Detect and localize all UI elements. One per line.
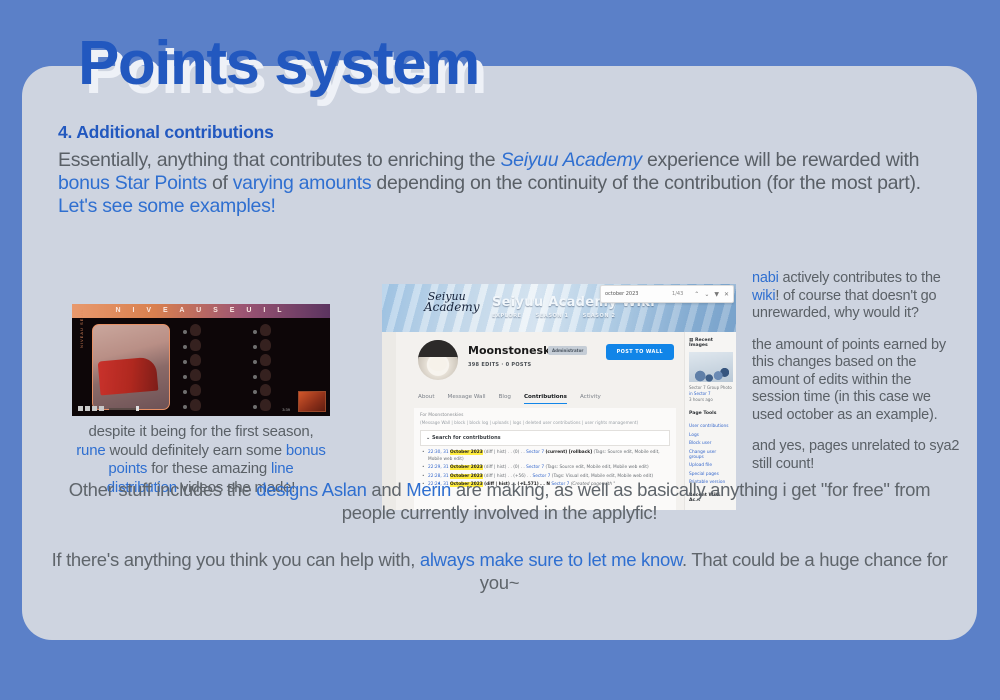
entry-tools[interactable]: (diff | hist) . . (0) . .: [484, 465, 525, 470]
left-figure: N I V E A U S E U I L NIVEAU SEUIL: [72, 304, 330, 497]
bottom1-text-1: Other stuff includes the: [69, 479, 257, 500]
wiki-screenshot: Seiyuu Academy Seiyuu Academy Wiki EXPLO…: [382, 284, 736, 510]
list-item: [252, 399, 278, 412]
thumbnail-column-left: [182, 324, 208, 414]
content-card: 4. Additional contributions Essentially,…: [22, 66, 977, 640]
link-bonus-star-points[interactable]: bonus Star Points: [58, 172, 207, 194]
link-varying-amounts[interactable]: varying amounts: [233, 172, 372, 194]
video-title-bar: N I V E A U S E U I L: [72, 304, 330, 318]
list-item: [182, 354, 208, 367]
entry-tools[interactable]: (diff | hist) . . (0) . .: [484, 450, 525, 455]
list-item: [252, 384, 278, 397]
page-tools-heading: Page Tools: [689, 411, 732, 416]
list-item: [252, 324, 278, 337]
entry-page[interactable]: Sector 7: [526, 465, 544, 470]
close-icon[interactable]: ✕: [724, 291, 729, 298]
video-side-label: NIVEAU SEUIL: [79, 308, 84, 348]
list-item: [252, 339, 278, 352]
recent-image-thumbnail[interactable]: [689, 352, 733, 382]
thumbnail-column-right: [252, 324, 278, 414]
entry-date: October 2023: [450, 465, 483, 470]
contributions-links[interactable]: (Message Wall | block | block log | uplo…: [420, 420, 670, 425]
list-item: [182, 384, 208, 397]
page-title: Points system: [78, 28, 479, 99]
video-time: 3:39: [282, 407, 290, 412]
stop-icon[interactable]: [85, 406, 90, 411]
intro-text-2: experience will be rewarded with: [642, 149, 919, 171]
page-tools-list[interactable]: User contributions Logs Block user Chang…: [689, 424, 732, 485]
link-see-examples[interactable]: Let's see some examples!: [58, 195, 276, 217]
list-item: 22:30, 31 October 2023 (diff | hist) . .…: [428, 450, 670, 463]
intro-text-3: of: [207, 172, 233, 194]
chevron-down-icon[interactable]: ⌄: [704, 291, 709, 298]
tab-activity[interactable]: Activity: [580, 394, 601, 404]
bottom-paragraph-1: Other stuff includes the designs Aslan a…: [40, 478, 959, 524]
right-text-1: actively contributes to the: [779, 270, 941, 286]
entry-page[interactable]: Sector 7: [526, 450, 544, 455]
recent-images-label: Recent Images: [689, 338, 713, 348]
link-let-me-know[interactable]: always make sure to let me know: [420, 549, 682, 570]
link-wiki[interactable]: wiki: [752, 288, 775, 304]
page-tool-upload-file[interactable]: Upload file: [689, 463, 732, 468]
caption-text-3: for these amazing: [147, 460, 271, 477]
list-item: [252, 369, 278, 382]
page-tool-logs[interactable]: Logs: [689, 433, 732, 438]
list-item: [182, 339, 208, 352]
status-badge: Administrator: [548, 346, 587, 355]
recent-images-heading: ▦ Recent Images: [689, 338, 732, 348]
search-for-contributions[interactable]: ⌄ Search for contributions: [420, 430, 670, 446]
right-paragraph-2: the amount of points earned by this chan…: [752, 337, 962, 425]
filter-icon[interactable]: ▼: [714, 291, 719, 298]
entry-flags[interactable]: (current) [rollback]: [545, 450, 592, 455]
right-text-2: ! of course that doesn't go unrewarded, …: [752, 288, 936, 322]
bottom-paragraph-2: If there's anything you think you can he…: [40, 548, 959, 594]
section-heading: 4. Additional contributions: [58, 122, 959, 143]
page-tool-change-user-groups[interactable]: Change user groups: [689, 450, 732, 460]
list-item: [182, 324, 208, 337]
intro-paragraph: Essentially, anything that contributes t…: [58, 149, 941, 218]
link-merin[interactable]: Merin: [406, 479, 451, 500]
page-tool-special-pages[interactable]: Special pages: [689, 472, 732, 477]
wiki-banner: Seiyuu Academy Seiyuu Academy Wiki EXPLO…: [382, 284, 736, 332]
page-tool-user-contributions[interactable]: User contributions: [689, 424, 732, 429]
list-item: 22:29, 31 October 2023 (diff | hist) . .…: [428, 465, 670, 472]
right-paragraph-3: and yes, pages unrelated to sya2 still c…: [752, 438, 962, 473]
page-tool-block-user[interactable]: Block user: [689, 441, 732, 446]
nav-item-season-2[interactable]: SEASON 2: [583, 313, 616, 319]
tab-contributions[interactable]: Contributions: [524, 394, 567, 404]
right-paragraph-1: nabi actively contributes to the wiki! o…: [752, 270, 962, 323]
chevron-down-icon[interactable]: ⌄: [426, 435, 430, 441]
caption-text-2: would definitely earn some: [106, 442, 286, 459]
entry-date: October 2023: [450, 450, 483, 455]
pause-icon[interactable]: [78, 406, 83, 411]
right-text-column: nabi actively contributes to the wiki! o…: [752, 270, 962, 487]
chevron-up-icon[interactable]: ⌃: [694, 291, 699, 298]
tab-message-wall[interactable]: Message Wall: [448, 394, 486, 404]
video-controls[interactable]: [78, 406, 139, 411]
list-item: [182, 369, 208, 382]
entry-time[interactable]: 22:30, 31: [428, 450, 449, 455]
intro-text-4: depending on the continuity of the contr…: [371, 172, 920, 194]
entry-tags: (Tags: Source edit, Mobile edit, Mobile …: [545, 465, 648, 470]
seek-bar[interactable]: [109, 408, 139, 410]
find-match-count: 1/43: [672, 291, 683, 297]
next-icon[interactable]: [92, 406, 97, 411]
wiki-logo: Seiyuu Academy: [414, 292, 479, 312]
entry-time[interactable]: 22:29, 31: [428, 465, 449, 470]
link-rune[interactable]: rune: [76, 442, 105, 459]
video-photo: [92, 324, 170, 410]
tab-blog[interactable]: Blog: [499, 394, 511, 404]
wiki-logo-line2: Academy: [424, 302, 479, 312]
profile-tabs[interactable]: About Message Wall Blog Contributions Ac…: [418, 394, 601, 404]
avatar[interactable]: [418, 340, 458, 380]
search-label: Search for contributions: [432, 435, 501, 441]
examples-row: N I V E A U S E U I L NIVEAU SEUIL: [40, 222, 959, 462]
intro-text-1: Essentially, anything that contributes t…: [58, 149, 500, 171]
nav-item-season-1[interactable]: SEASON 1: [536, 313, 569, 319]
caption-text-1: despite it being for the first season,: [88, 423, 313, 440]
list-item: [182, 399, 208, 412]
video-corner-thumbnail: [298, 391, 326, 412]
image-time: 3 hours ago: [689, 397, 732, 403]
nav-item-explore[interactable]: EXPLORE: [492, 313, 522, 319]
contributions-for: For Moonstoneskies: [420, 413, 670, 418]
profile-stats: 398 EDITS · 0 POSTS: [468, 362, 531, 368]
browser-find-bar[interactable]: october 2023 1/43 ⌃ ⌄ ▼ ✕: [600, 285, 734, 303]
post-to-wall-button[interactable]: POST TO WALL: [606, 344, 674, 360]
find-input[interactable]: october 2023: [605, 291, 672, 297]
link-seiyuu-academy[interactable]: Seiyuu Academy: [500, 149, 641, 171]
card-content: 4. Additional contributions Essentially,…: [22, 66, 977, 640]
video-thumbnail[interactable]: N I V E A U S E U I L NIVEAU SEUIL: [72, 304, 330, 416]
list-item: [252, 354, 278, 367]
link-nabi[interactable]: nabi: [752, 270, 779, 286]
wiki-nav[interactable]: EXPLORE SEASON 1 SEASON 2: [492, 313, 616, 319]
tab-about[interactable]: About: [418, 394, 435, 404]
bottom2-text-1: If there's anything you think you can he…: [52, 549, 420, 570]
link-designs-aslan[interactable]: designs Aslan: [256, 479, 366, 500]
recent-image-caption: Sector 7 Group Photo in Sector 7 3 hours…: [689, 385, 732, 403]
bottom1-text-2: and: [367, 479, 407, 500]
volume-icon[interactable]: [99, 406, 104, 411]
